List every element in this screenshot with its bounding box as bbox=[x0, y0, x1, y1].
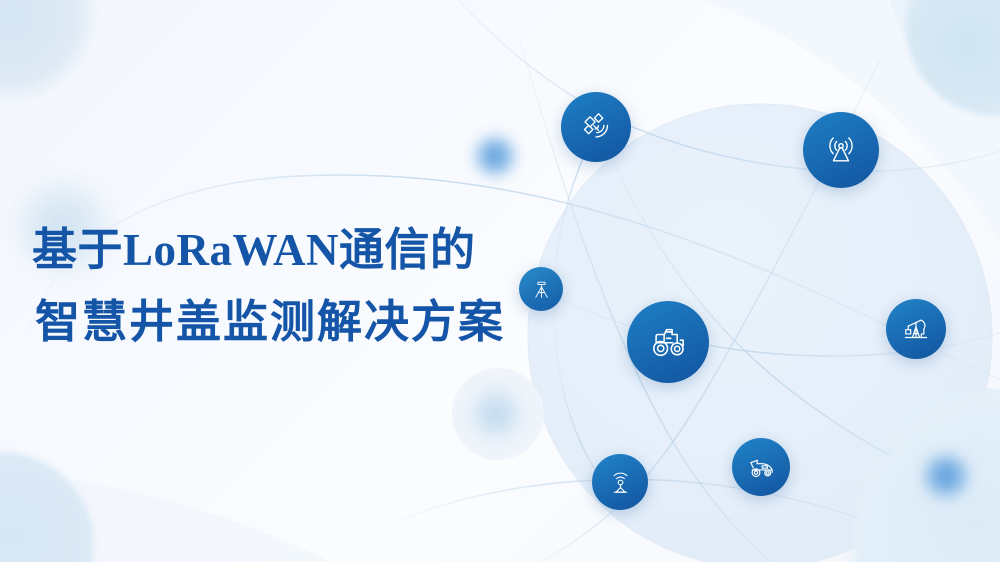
pale-circle-bottom-right bbox=[857, 387, 1000, 562]
pale-circle-small-left bbox=[452, 368, 544, 460]
soft-dot-center-left bbox=[470, 388, 522, 440]
orbit-arc-left-node bbox=[554, 126, 620, 500]
icon-node-oil-pumpjack[interactable] bbox=[886, 299, 946, 359]
icon-node-harvester[interactable] bbox=[732, 438, 790, 496]
accent-dot-bottom-right bbox=[922, 452, 970, 500]
icon-node-survey-tripod[interactable] bbox=[519, 267, 563, 311]
wireless-sensor-icon bbox=[605, 467, 636, 498]
accent-dot-left bbox=[473, 134, 517, 178]
icon-node-satellite[interactable] bbox=[561, 92, 631, 162]
presentation-slide: 基于LoRaWAN通信的 智慧井盖监测解决方案 bbox=[0, 0, 1000, 562]
icon-node-tractor[interactable] bbox=[627, 301, 709, 383]
slide-title-line-2: 智慧井盖监测解决方案 bbox=[32, 299, 505, 344]
slide-title-block: 基于LoRaWAN通信的 智慧井盖监测解决方案 bbox=[32, 228, 505, 344]
icon-node-radio-tower[interactable] bbox=[803, 112, 879, 188]
blurred-blob-top-left bbox=[0, 0, 97, 103]
oil-pumpjack-icon bbox=[899, 312, 933, 346]
blurred-blob-bottom-right bbox=[852, 400, 1000, 562]
orbit-arc-lower bbox=[400, 479, 960, 562]
corner-sweep-bottom-left bbox=[0, 470, 330, 562]
harvester-icon bbox=[745, 451, 778, 484]
radio-tower-icon bbox=[821, 130, 861, 170]
blurred-blob-bottom-left bbox=[0, 452, 94, 562]
orbit-arc-upper bbox=[430, 0, 1000, 172]
satellite-icon bbox=[577, 108, 615, 146]
icon-node-wireless-sensor[interactable] bbox=[592, 454, 648, 510]
survey-tripod-icon bbox=[529, 277, 554, 302]
slide-title-line-1: 基于LoRaWAN通信的 bbox=[32, 228, 505, 273]
blurred-blob-top-right bbox=[906, 0, 1000, 116]
corner-sweep-top-right bbox=[890, 0, 1000, 120]
tractor-icon bbox=[646, 320, 690, 364]
